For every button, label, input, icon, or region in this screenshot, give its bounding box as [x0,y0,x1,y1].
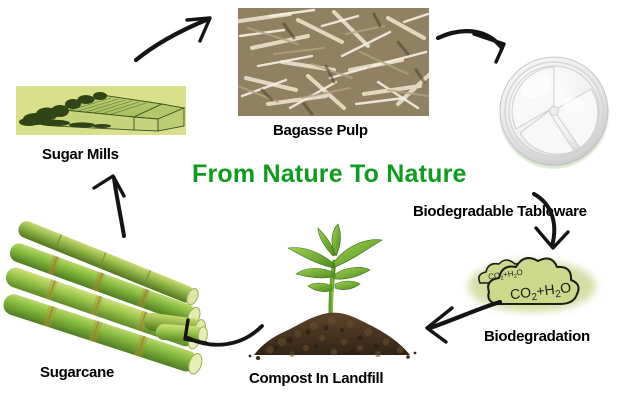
sugar-mills-image [16,86,186,135]
compost-in-landfill-label: Compost In Landfill [249,370,383,387]
bagasse-pulp-image [238,8,429,116]
bagasse-pulp-label: Bagasse Pulp [273,122,368,139]
arrow-sugarcane-to-mills [82,170,172,242]
arrow-compost-to-sugarcane [166,316,276,364]
sugarcane-label: Sugarcane [40,364,114,381]
arrow-biodegradation-to-compost [418,298,512,350]
infographic-canvas: Sugar Mills [0,0,640,400]
sugar-mills-label: Sugar Mills [42,146,119,163]
page-title: From Nature To Nature [192,160,467,189]
arrow-pulp-to-tableware [430,14,540,76]
arrow-mills-to-pulp [130,8,240,70]
arrow-tableware-to-biodegradation [512,190,602,262]
